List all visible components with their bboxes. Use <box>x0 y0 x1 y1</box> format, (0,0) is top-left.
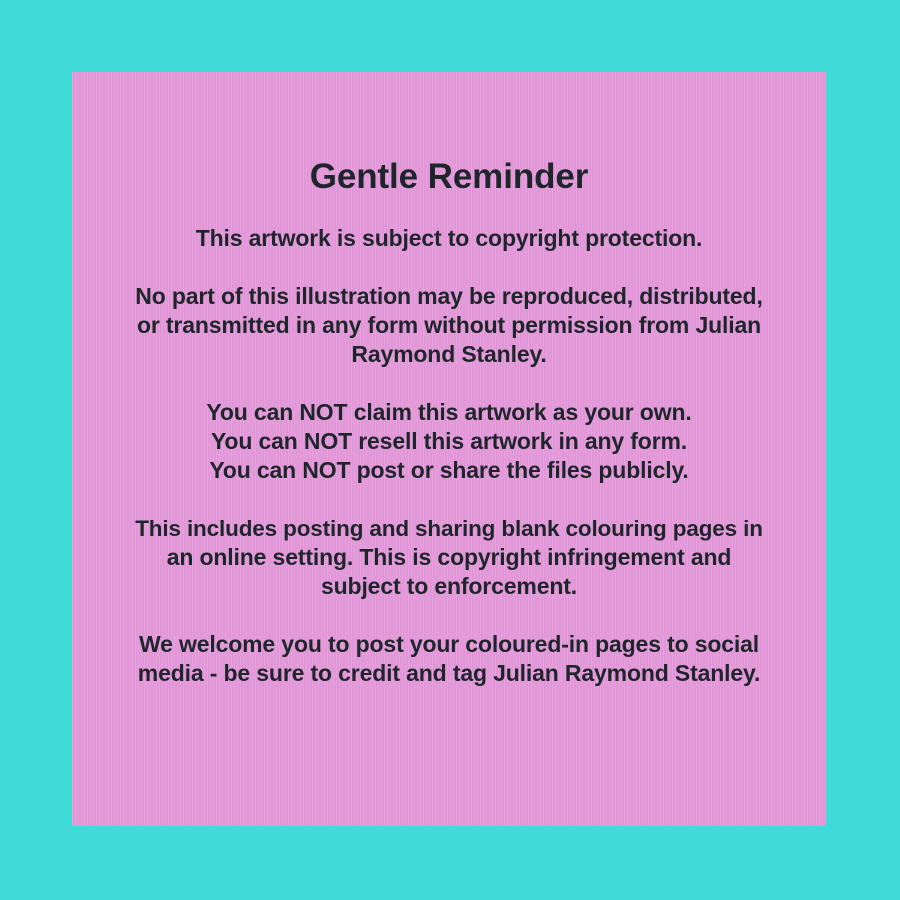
notice-panel: Gentle Reminder This artwork is subject … <box>72 72 826 826</box>
notice-line: Raymond Stanley. <box>130 340 768 369</box>
notice-line: You can NOT resell this artwork in any f… <box>130 427 768 456</box>
page-title: Gentle Reminder <box>130 156 768 198</box>
notice-line: media - be sure to credit and tag Julian… <box>130 659 768 688</box>
notice-line: You can NOT claim this artwork as your o… <box>130 398 768 427</box>
notice-block-blank-pages-clause: This includes posting and sharing blank … <box>130 514 768 601</box>
notice-line: You can NOT post or share the files publ… <box>130 456 768 485</box>
notice-block-copyright-statement: This artwork is subject to copyright pro… <box>130 224 768 253</box>
notice-block-prohibitions: You can NOT claim this artwork as your o… <box>130 398 768 485</box>
notice-line: No part of this illustration may be repr… <box>130 282 768 311</box>
notice-line: This includes posting and sharing blank … <box>130 514 768 543</box>
notice-line: We welcome you to post your coloured-in … <box>130 630 768 659</box>
notice-text-stack: Gentle Reminder This artwork is subject … <box>72 156 826 688</box>
notice-block-social-sharing-welcome: We welcome you to post your coloured-in … <box>130 630 768 688</box>
notice-line: subject to enforcement. <box>130 572 768 601</box>
image-canvas: Gentle Reminder This artwork is subject … <box>0 0 900 900</box>
notice-line: or transmitted in any form without permi… <box>130 311 768 340</box>
notice-block-reproduction-restriction: No part of this illustration may be repr… <box>130 282 768 369</box>
notice-line: an online setting. This is copyright inf… <box>130 543 768 572</box>
notice-line: This artwork is subject to copyright pro… <box>130 224 768 253</box>
